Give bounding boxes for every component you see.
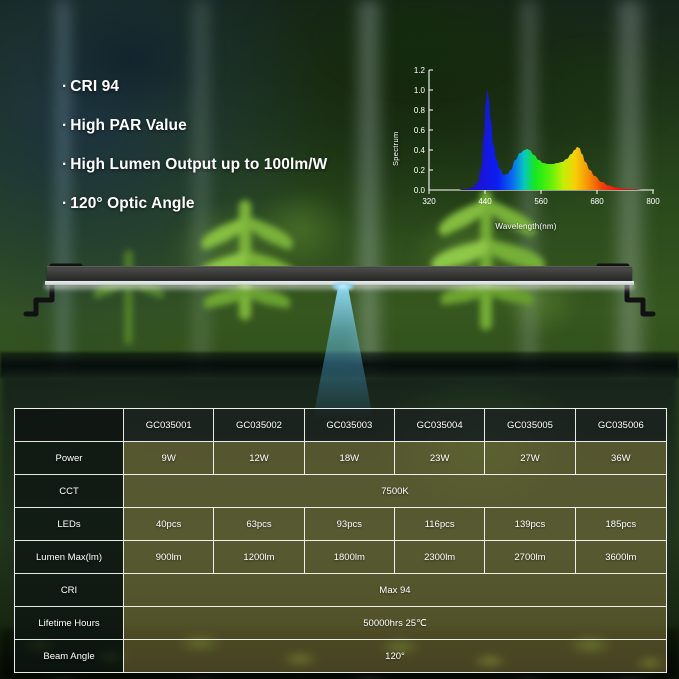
chart-y-axis-label: Spectrum xyxy=(391,132,400,167)
feature-list: ·CRI 94 ·High PAR Value ·High Lumen Outp… xyxy=(62,78,392,234)
row-label: Lumen Max(lm) xyxy=(15,541,124,574)
feature-item: ·CRI 94 xyxy=(62,78,392,96)
chart-x-axis-label: Wavelength(nm) xyxy=(392,222,660,231)
table-cell: 1800lm xyxy=(305,541,395,574)
led-grow-light-fixture xyxy=(0,246,679,356)
table-cell: 23W xyxy=(395,442,485,475)
row-label: CCT xyxy=(15,475,124,508)
specification-table: GC035001 GC035002 GC035003 GC035004 GC03… xyxy=(14,408,667,673)
chart-ytick: 0.2 xyxy=(414,166,426,175)
table-cell: 40pcs xyxy=(124,508,214,541)
table-cell-merged: Max 94 xyxy=(124,574,666,607)
table-row: Power 9W 12W 18W 23W 27W 36W xyxy=(15,442,666,475)
table-cell: 2300lm xyxy=(395,541,485,574)
table-row: CCT 7500K xyxy=(15,475,666,508)
feature-item: ·High PAR Value xyxy=(62,117,392,135)
chart-ytick: 1.2 xyxy=(414,66,426,75)
table-cell: 9W xyxy=(124,442,214,475)
table-row: LEDs 40pcs 63pcs 93pcs 116pcs 139pcs 185… xyxy=(15,508,666,541)
table-header-row: GC035001 GC035002 GC035003 GC035004 GC03… xyxy=(15,409,666,442)
chart-xtick: 440 xyxy=(478,197,492,206)
table-cell: 3600lm xyxy=(576,541,666,574)
model-header: GC035003 xyxy=(305,409,395,442)
table-cell: 185pcs xyxy=(576,508,666,541)
table-cell: 139pcs xyxy=(485,508,575,541)
table-row: Lifetime Hours 50000hrs 25℃ xyxy=(15,607,666,640)
table-cell: 36W xyxy=(576,442,666,475)
table-row: Lumen Max(lm) 900lm 1200lm 1800lm 2300lm… xyxy=(15,541,666,574)
table-cell: 1200lm xyxy=(214,541,304,574)
chart-ytick: 0.0 xyxy=(414,186,426,195)
light-beam xyxy=(313,286,373,418)
table-corner-cell xyxy=(15,409,124,442)
feature-text: 120° Optic Angle xyxy=(70,195,194,212)
light-source-hotspot xyxy=(332,282,354,291)
table-cell: 900lm xyxy=(124,541,214,574)
product-infographic: ·CRI 94 ·High PAR Value ·High Lumen Outp… xyxy=(0,0,679,679)
feature-text: High PAR Value xyxy=(70,117,187,134)
row-label: CRI xyxy=(15,574,124,607)
table-cell: 93pcs xyxy=(305,508,395,541)
chart-xtick: 320 xyxy=(422,197,436,206)
bullet-dot: · xyxy=(62,195,67,213)
chart-xtick: 680 xyxy=(590,197,604,206)
row-label: Beam Angle xyxy=(15,640,124,672)
table-cell: 27W xyxy=(485,442,575,475)
chart-xtick: 560 xyxy=(534,197,548,206)
model-header: GC035002 xyxy=(214,409,304,442)
chart-ytick: 0.4 xyxy=(414,146,426,155)
table-cell: 63pcs xyxy=(214,508,304,541)
chart-xtick: 800 xyxy=(646,197,660,206)
chart-ytick: 1.0 xyxy=(414,86,426,95)
chart-ytick: 0.8 xyxy=(414,106,426,115)
feature-text: CRI 94 xyxy=(70,78,119,95)
model-header: GC035005 xyxy=(485,409,575,442)
table-cell: 18W xyxy=(305,442,395,475)
table-cell-merged: 7500K xyxy=(124,475,666,508)
table-cell: 2700lm xyxy=(485,541,575,574)
chart-canvas: 0.0 0.2 0.4 0.6 0.8 1.0 1.2 320 440 560 xyxy=(392,62,660,222)
feature-item: ·120° Optic Angle xyxy=(62,195,392,213)
feature-text: High Lumen Output up to 100lm/W xyxy=(70,156,327,173)
row-label: LEDs xyxy=(15,508,124,541)
table-cell: 116pcs xyxy=(395,508,485,541)
spectrum-curve xyxy=(457,90,644,190)
table-cell: 12W xyxy=(214,442,304,475)
feature-item: ·High Lumen Output up to 100lm/W xyxy=(62,156,392,174)
model-header: GC035001 xyxy=(124,409,214,442)
table-cell-merged: 50000hrs 25℃ xyxy=(124,607,666,640)
row-label: Power xyxy=(15,442,124,475)
bullet-dot: · xyxy=(62,78,67,96)
table-row: Beam Angle 120° xyxy=(15,640,666,672)
table-cell-merged: 120° xyxy=(124,640,666,672)
model-header: GC035006 xyxy=(576,409,666,442)
model-header: GC035004 xyxy=(395,409,485,442)
chart-ytick: 0.6 xyxy=(414,126,426,135)
fixture-housing xyxy=(47,268,632,281)
row-label: Lifetime Hours xyxy=(15,607,124,640)
spectrum-chart: Spectrum xyxy=(392,62,660,240)
bullet-dot: · xyxy=(62,117,67,135)
bullet-dot: · xyxy=(62,156,67,174)
table-row: CRI Max 94 xyxy=(15,574,666,607)
